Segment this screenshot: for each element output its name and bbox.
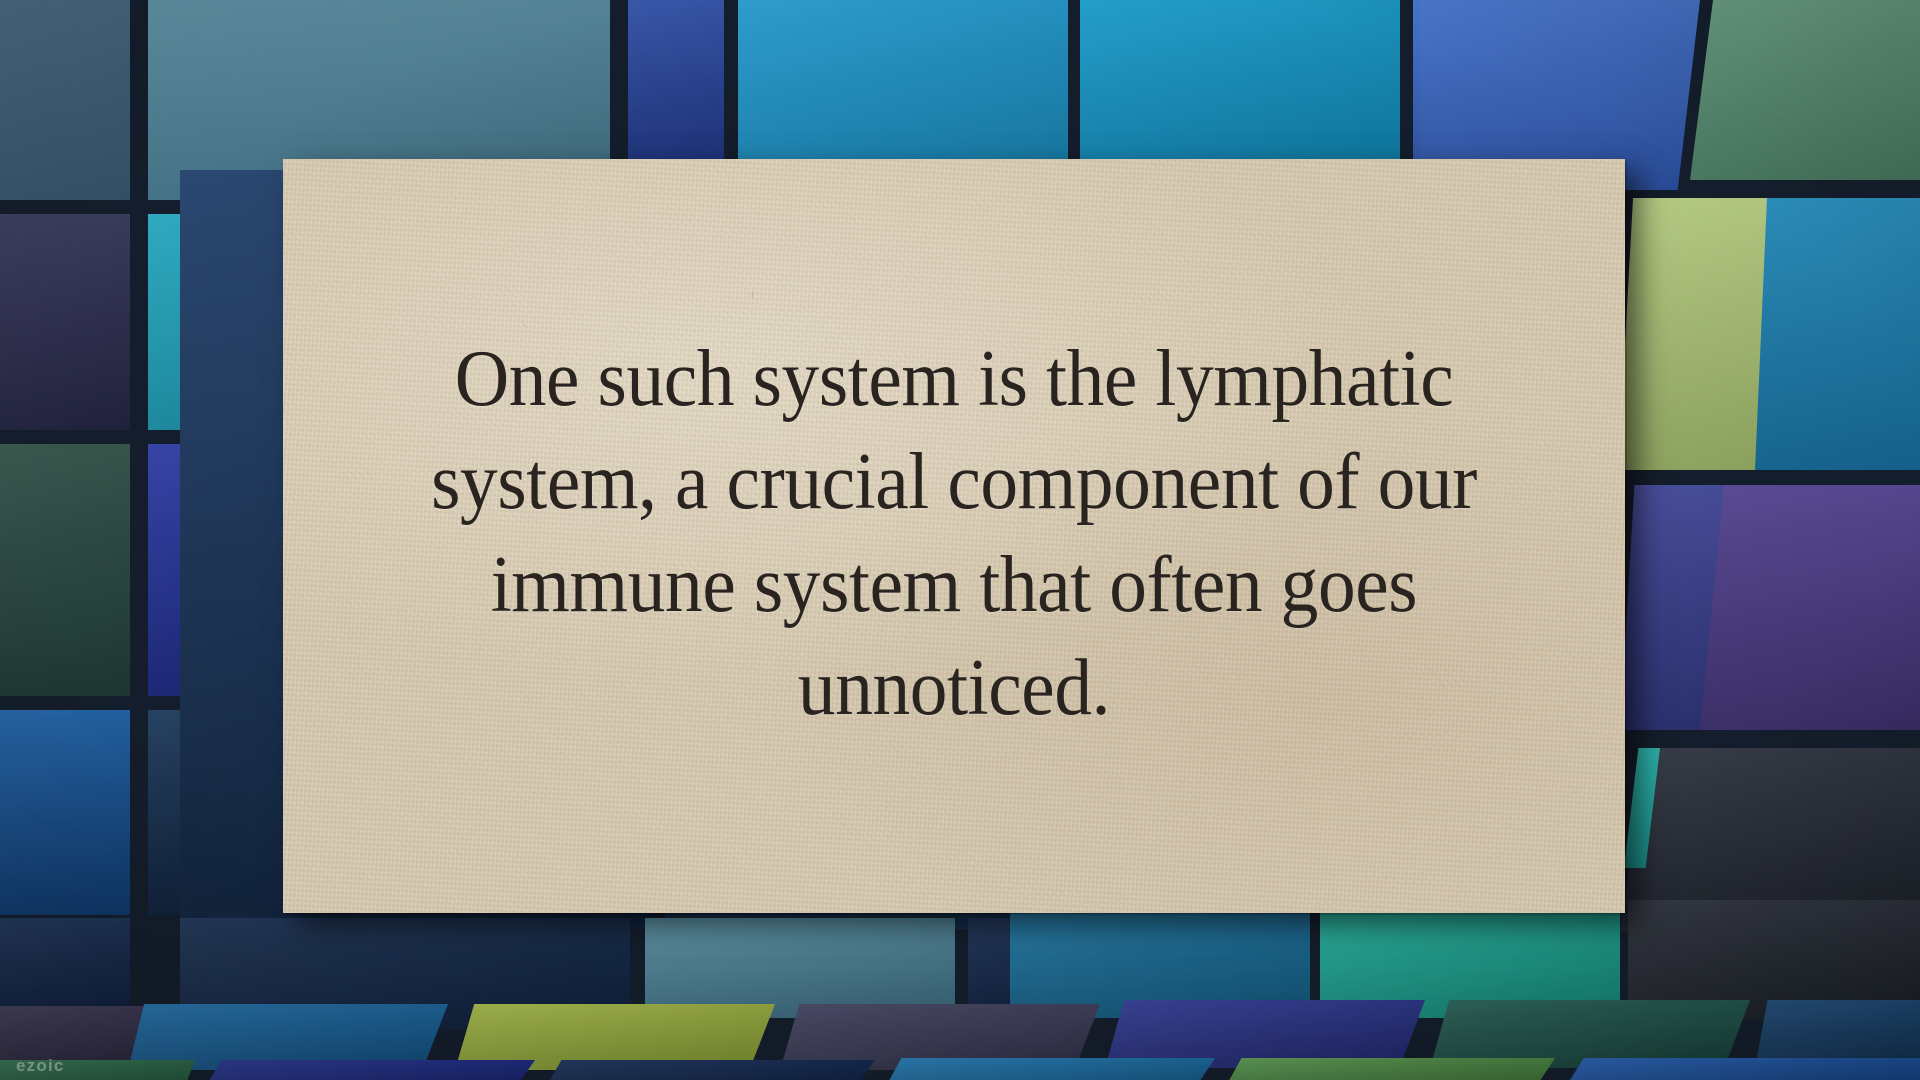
tile-slate-blue-tl — [0, 0, 130, 200]
tile-sea-blue-right — [1755, 198, 1920, 470]
tile-dark-green-left — [0, 444, 130, 696]
floor-tile-forest — [1430, 1000, 1750, 1068]
paper-card: One such system is the lymphatic system,… — [283, 159, 1625, 913]
tile-azure-top — [738, 0, 1068, 166]
floor-tile-navy-right — [1755, 1000, 1920, 1068]
tile-blue-lower-left — [0, 710, 130, 915]
floor-row2-navy — [545, 1060, 875, 1080]
tile-violet-right — [1700, 485, 1920, 730]
floor-row2-cobalt — [1565, 1058, 1920, 1080]
tile-indigo-left — [0, 214, 130, 430]
tile-cyan-top — [1080, 0, 1400, 166]
ezoic-watermark: ezoic — [16, 1056, 65, 1076]
quote-text: One such system is the lymphatic system,… — [401, 327, 1508, 738]
floor-row2-green2 — [1225, 1058, 1555, 1080]
floor-row2-blue — [885, 1058, 1215, 1080]
tile-steel-bottom-mid — [645, 918, 955, 1018]
floor-tile-indigo — [1105, 1000, 1425, 1068]
tile-indigo-upper — [628, 0, 724, 166]
slide-stage: One such system is the lymphatic system,… — [0, 0, 1920, 1080]
floor-row2-indigo — [205, 1060, 535, 1080]
tile-sage-green-top — [1690, 0, 1920, 180]
